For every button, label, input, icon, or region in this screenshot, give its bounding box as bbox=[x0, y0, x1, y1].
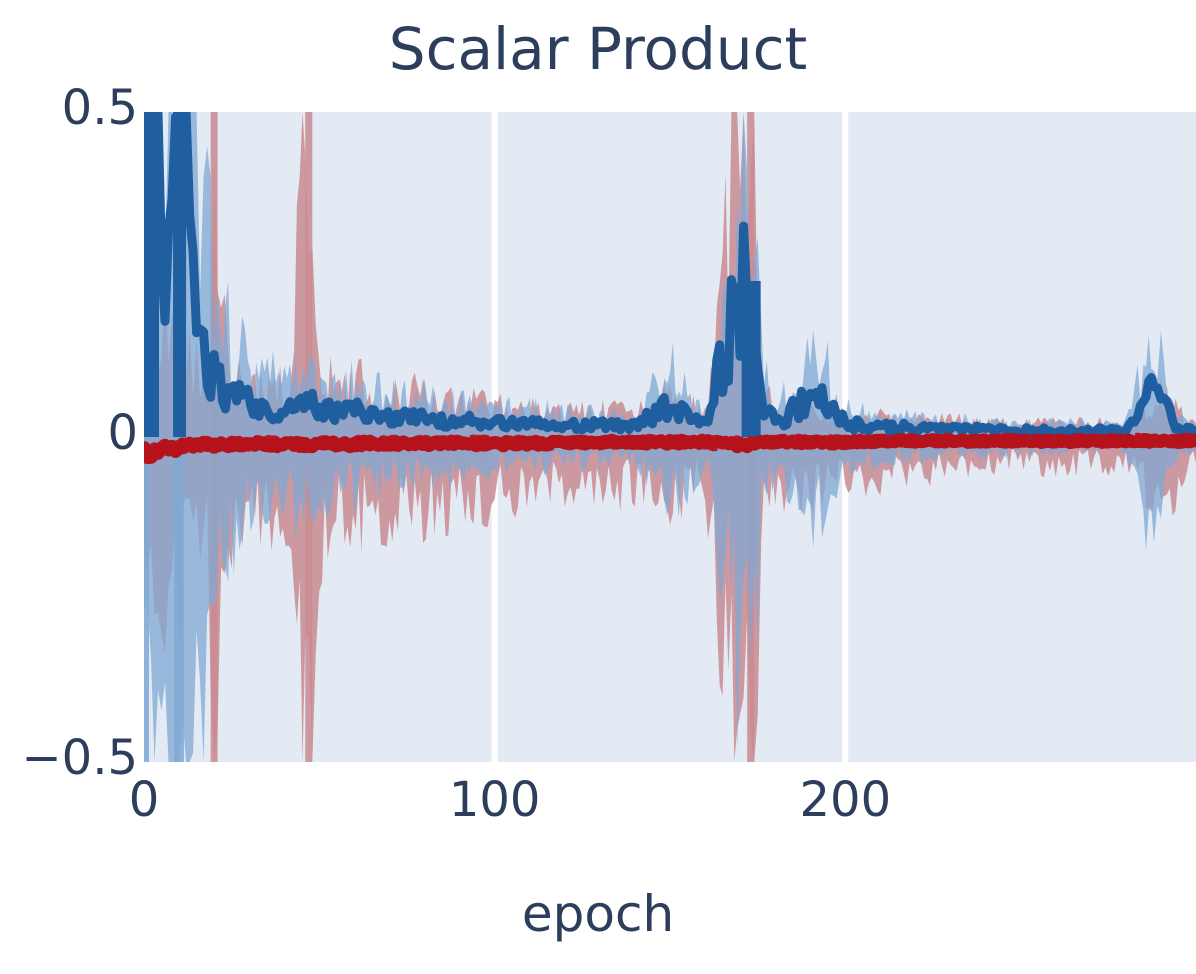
plot-area bbox=[144, 112, 1196, 762]
y-tick-label-upper: 0.5 bbox=[62, 84, 138, 132]
x-tick-label-0: 0 bbox=[129, 772, 160, 828]
chart-canvas bbox=[144, 112, 1196, 762]
y-tick-label-lower: −0.5 bbox=[21, 734, 138, 782]
chart-page: Scalar Product 0.5 0 −0.5 0 100 200 epoc… bbox=[0, 0, 1196, 974]
x-tick-label-200: 200 bbox=[800, 772, 892, 828]
y-tick-label-zero: 0 bbox=[107, 409, 138, 457]
chart-title: Scalar Product bbox=[0, 14, 1196, 84]
x-axis-label: epoch bbox=[0, 884, 1196, 944]
x-tick-label-100: 100 bbox=[449, 772, 541, 828]
